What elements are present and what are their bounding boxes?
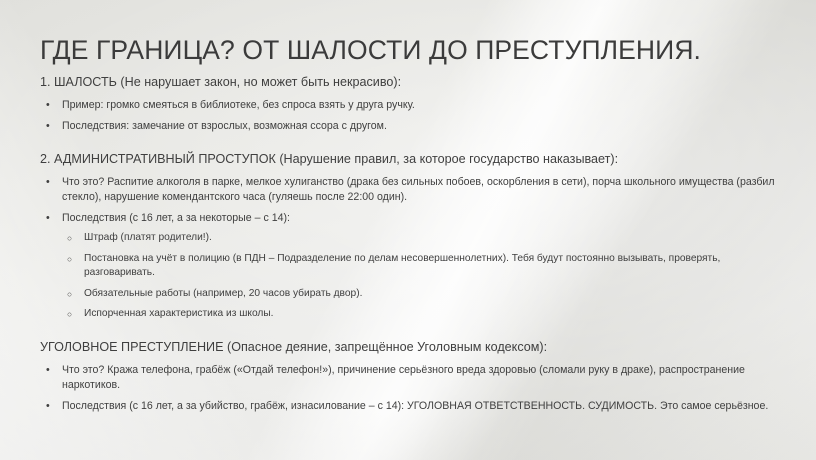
section-heading: 2. АДМИНИСТРАТИВНЫЙ ПРОСТУПОК (Нарушение… — [40, 151, 782, 168]
sub-list-item-text: Постановка на учёт в полицию (в ПДН – По… — [84, 253, 720, 278]
list-item: • Последствия (с 16 лет, а за некоторые … — [40, 211, 782, 321]
spacer — [40, 328, 782, 339]
list-item-text: Последствия (с 16 лет, а за некоторые – … — [62, 211, 782, 226]
spacer — [40, 140, 782, 151]
bullet-marker-icon: • — [46, 175, 50, 190]
sub-list-item: ○ Штраф (платят родители!). — [62, 231, 782, 245]
presentation-slide: ГДЕ ГРАНИЦА? ОТ ШАЛОСТИ ДО ПРЕСТУПЛЕНИЯ.… — [0, 0, 816, 460]
sub-bullet-marker-icon: ○ — [67, 252, 72, 266]
list-item: • Пример: громко смеяться в библиотеке, … — [40, 98, 782, 113]
bullet-marker-icon: • — [46, 98, 50, 113]
section-administrativnyy-prostupok: 2. АДМИНИСТРАТИВНЫЙ ПРОСТУПОК (Нарушение… — [40, 151, 782, 322]
list-item: • Что это? Распитие алкоголя в парке, ме… — [40, 175, 782, 205]
list-item: • Что это? Кража телефона, грабёж («Отда… — [40, 363, 782, 393]
sub-list-item: ○ Испорченная характеристика из школы. — [62, 307, 782, 321]
sub-list-item-text: Штраф (платят родители!). — [84, 232, 212, 243]
list-item-text: Что это? Кража телефона, грабёж («Отдай … — [62, 363, 782, 393]
section-heading: УГОЛОВНОЕ ПРЕСТУПЛЕНИЕ (Опасное деяние, … — [40, 339, 782, 356]
section-ugolovnoe-prestuplenie: УГОЛОВНОЕ ПРЕСТУПЛЕНИЕ (Опасное деяние, … — [40, 339, 782, 414]
list-item-text: Пример: громко смеяться в библиотеке, бе… — [62, 98, 782, 113]
list-item-text: Что это? Распитие алкоголя в парке, мелк… — [62, 175, 782, 205]
list-item: • Последствия (с 16 лет, а за убийство, … — [40, 399, 782, 414]
sub-list-item-text: Обязательные работы (например, 20 часов … — [84, 288, 362, 299]
sub-bullet-marker-icon: ○ — [67, 307, 72, 321]
list-item: • Последствия: замечание от взрослых, во… — [40, 119, 782, 134]
slide-body: 1. ШАЛОСТЬ (Не нарушает закон, но может … — [40, 74, 782, 420]
sub-bullet-marker-icon: ○ — [67, 231, 72, 245]
list-item-text: Последствия: замечание от взрослых, возм… — [62, 119, 782, 134]
slide-title: ГДЕ ГРАНИЦА? ОТ ШАЛОСТИ ДО ПРЕСТУПЛЕНИЯ. — [40, 36, 780, 65]
sub-list-item-text: Испорченная характеристика из школы. — [84, 308, 274, 319]
list-item-text: Последствия (с 16 лет, а за убийство, гр… — [62, 399, 782, 414]
sub-list-item: ○ Постановка на учёт в полицию (в ПДН – … — [62, 252, 782, 281]
section-heading: 1. ШАЛОСТЬ (Не нарушает закон, но может … — [40, 74, 782, 91]
bullet-marker-icon: • — [46, 211, 50, 226]
bullet-marker-icon: • — [46, 363, 50, 378]
section-shalost: 1. ШАЛОСТЬ (Не нарушает закон, но может … — [40, 74, 782, 134]
bullet-marker-icon: • — [46, 399, 50, 414]
sub-list-item: ○ Обязательные работы (например, 20 часо… — [62, 287, 782, 301]
bullet-list: • Что это? Распитие алкоголя в парке, ме… — [40, 175, 782, 322]
sub-bullet-list: ○ Штраф (платят родители!). ○ Постановка… — [62, 231, 782, 321]
bullet-list: • Что это? Кража телефона, грабёж («Отда… — [40, 363, 782, 414]
bullet-list: • Пример: громко смеяться в библиотеке, … — [40, 98, 782, 134]
sub-bullet-marker-icon: ○ — [67, 287, 72, 301]
bullet-marker-icon: • — [46, 119, 50, 134]
